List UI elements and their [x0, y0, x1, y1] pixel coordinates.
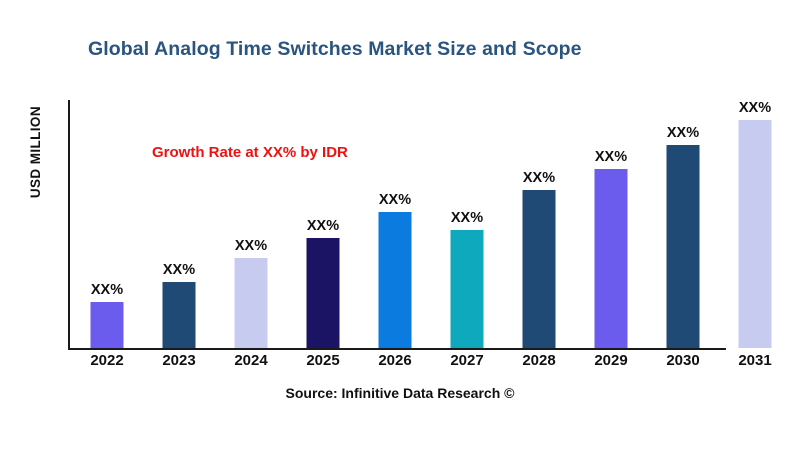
chart-figure: Global Analog Time Switches Market Size … [0, 0, 800, 450]
x-tick-2027: 2027 [431, 352, 503, 369]
bar-2026[interactable] [379, 212, 412, 348]
bar-2027[interactable] [451, 230, 484, 348]
bar-slot: XX% [431, 100, 503, 348]
bar-slot: XX% [503, 100, 575, 348]
y-axis-label: USD MILLION [28, 106, 43, 198]
x-tick-2031: 2031 [719, 352, 791, 369]
x-tick-2025: 2025 [287, 352, 359, 369]
bar-2031[interactable] [739, 120, 772, 348]
bar-2028[interactable] [523, 190, 556, 348]
y-axis-label-container: USD MILLION [22, 100, 48, 350]
bar-2024[interactable] [235, 258, 268, 348]
x-tick-2030: 2030 [647, 352, 719, 369]
bar-slot: XX% [71, 100, 143, 348]
x-tick-2026: 2026 [359, 352, 431, 369]
plot-area: Growth Rate at XX% by IDR XX%XX%XX%XX%XX… [68, 100, 726, 348]
bar-value-label-2029: XX% [595, 149, 627, 165]
bar-2030[interactable] [667, 145, 700, 348]
bar-value-label-2024: XX% [235, 238, 267, 254]
x-tick-2024: 2024 [215, 352, 287, 369]
x-axis-line [68, 348, 726, 350]
bar-slot: XX% [647, 100, 719, 348]
bar-value-label-2025: XX% [307, 218, 339, 234]
bar-value-label-2023: XX% [163, 262, 195, 278]
bar-value-label-2027: XX% [451, 210, 483, 226]
bar-slot: XX% [719, 100, 791, 348]
bar-2022[interactable] [91, 302, 124, 348]
bar-value-label-2022: XX% [91, 282, 123, 298]
bar-series: XX%XX%XX%XX%XX%XX%XX%XX%XX%XX% [68, 100, 800, 348]
bar-slot: XX% [575, 100, 647, 348]
x-tick-2023: 2023 [143, 352, 215, 369]
bar-slot: XX% [215, 100, 287, 348]
bar-2029[interactable] [595, 169, 628, 348]
bar-slot: XX% [359, 100, 431, 348]
bar-slot: XX% [143, 100, 215, 348]
bar-slot: XX% [287, 100, 359, 348]
source-caption: Source: Infinitive Data Research © [0, 385, 800, 401]
bar-2025[interactable] [307, 238, 340, 348]
bar-value-label-2028: XX% [523, 170, 555, 186]
bar-value-label-2031: XX% [739, 100, 771, 116]
x-tick-2022: 2022 [71, 352, 143, 369]
x-tick-2029: 2029 [575, 352, 647, 369]
bar-2023[interactable] [163, 282, 196, 348]
bar-value-label-2030: XX% [667, 125, 699, 141]
x-tick-2028: 2028 [503, 352, 575, 369]
bar-value-label-2026: XX% [379, 192, 411, 208]
x-axis-tick-labels: 2022202320242025202620272028202920302031 [68, 352, 800, 378]
chart-title: Global Analog Time Switches Market Size … [88, 38, 582, 61]
